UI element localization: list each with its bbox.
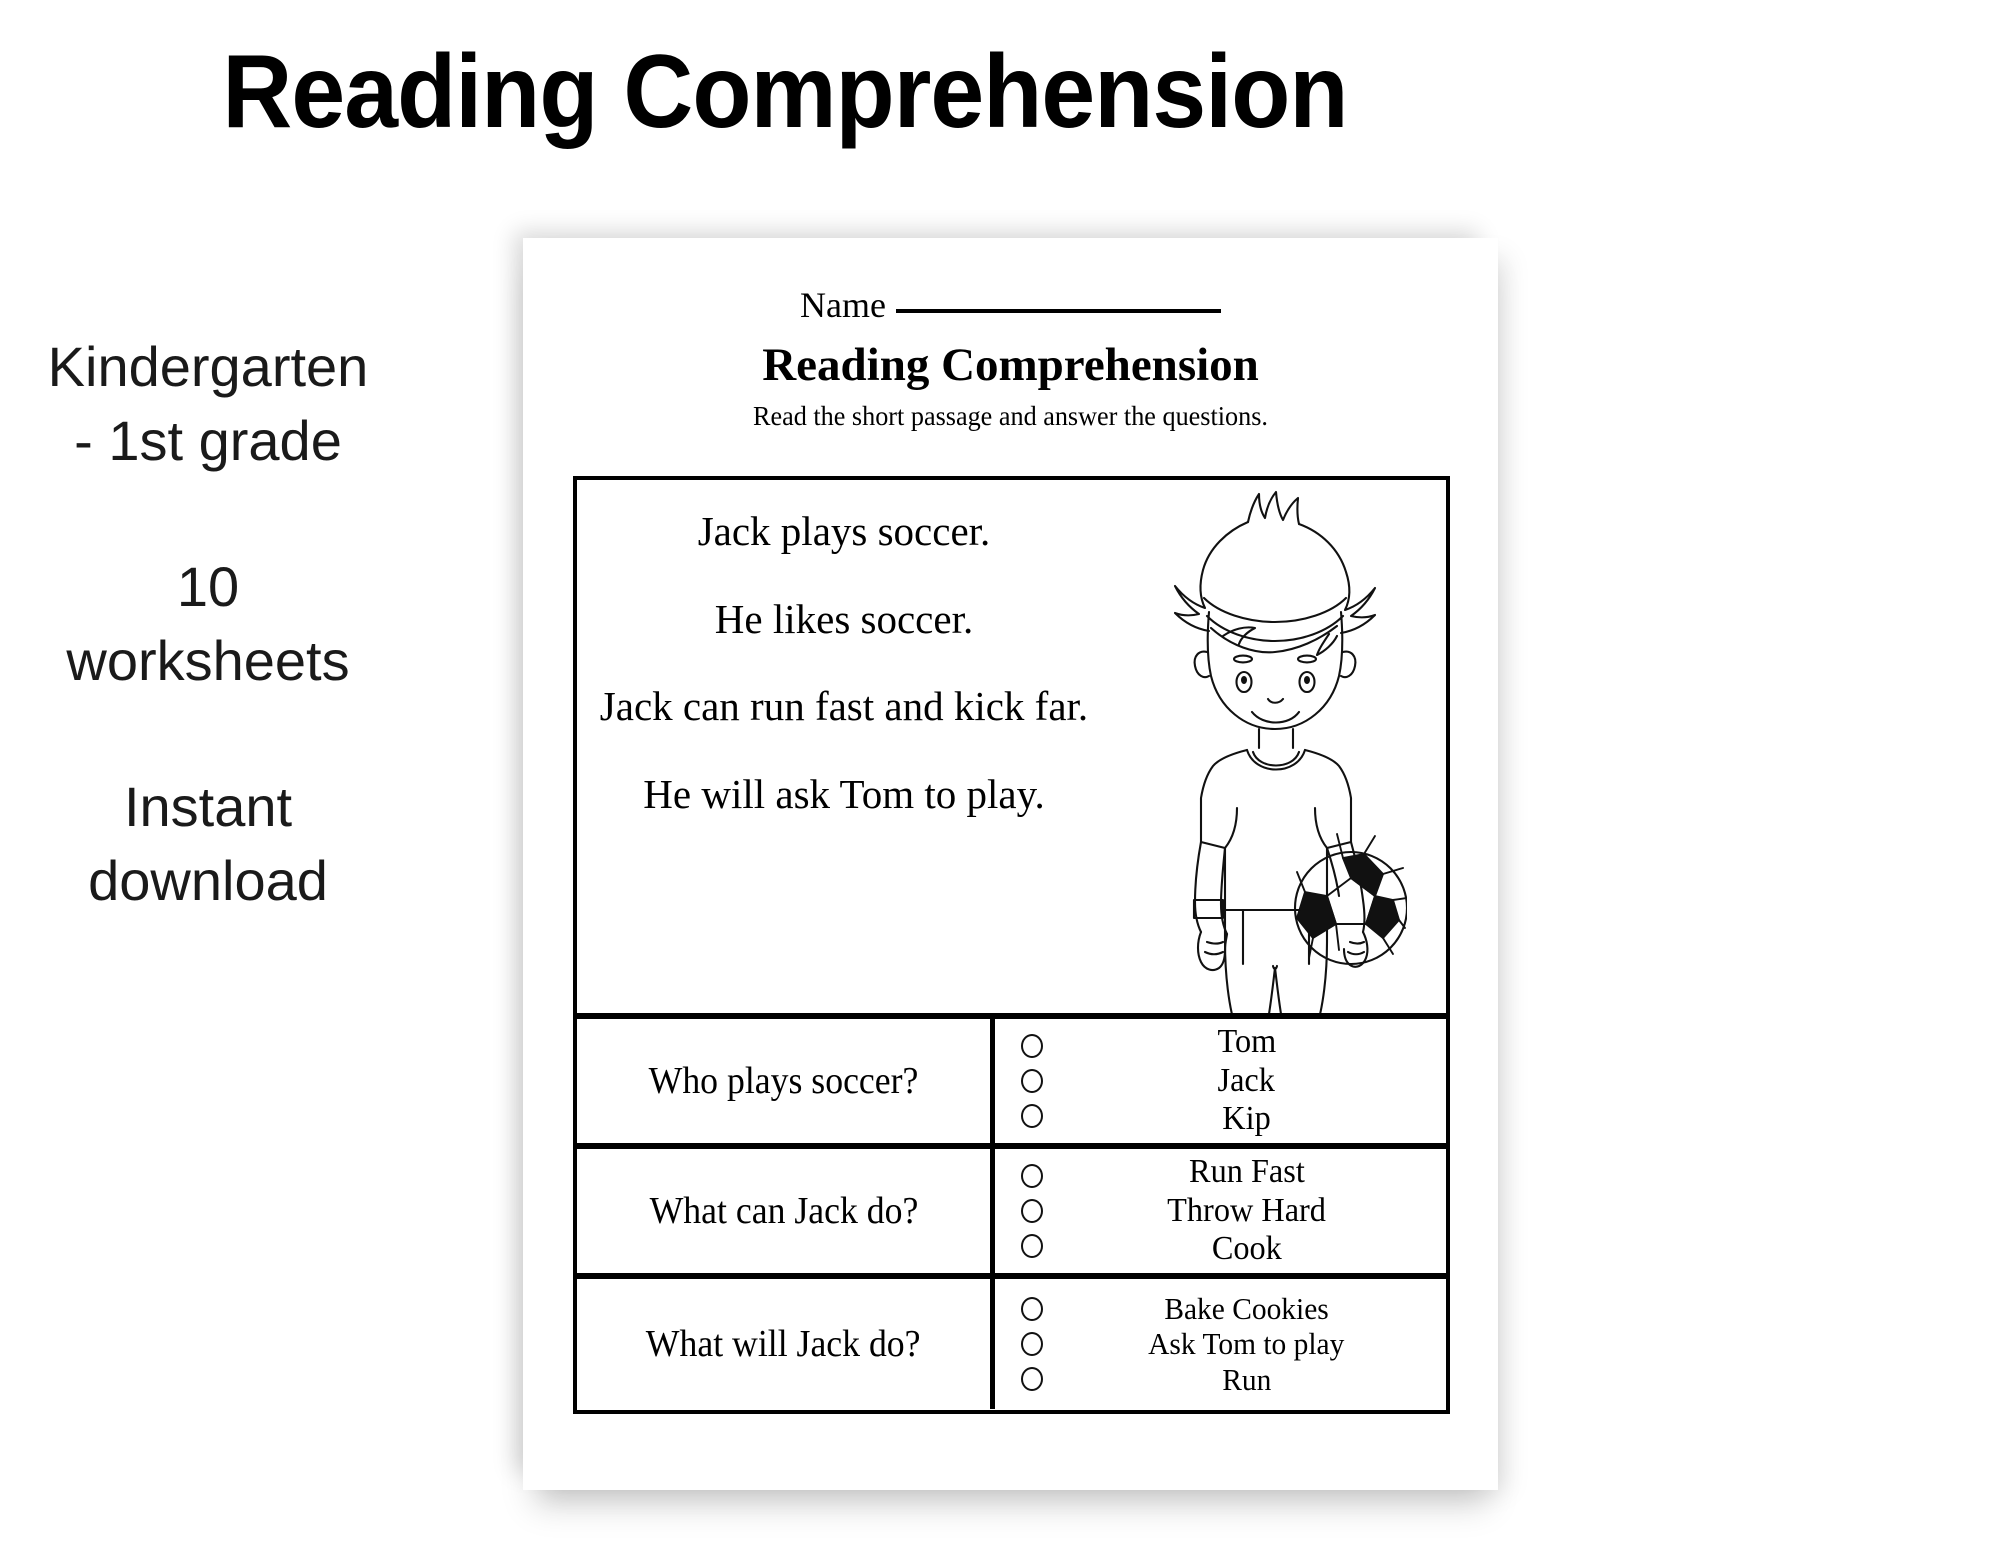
option-radio[interactable] [1021,1164,1043,1188]
option-radio[interactable] [1021,1367,1043,1391]
worksheet-content-frame: Jack plays soccer. He likes soccer. Jack… [573,476,1450,1414]
option-label[interactable]: Jack [1218,1063,1275,1099]
passage-region: Jack plays soccer. He likes soccer. Jack… [577,480,1446,1019]
options-radio-group [995,1297,1053,1391]
name-field-row: Name [523,284,1498,326]
promo-line: - 1st grade [8,404,408,478]
passage-line: Jack plays soccer. [595,508,1093,556]
question-cell: Who plays soccer? [577,1019,995,1143]
passage-line: He will ask Tom to play. [595,771,1093,819]
passage-line: Jack can run fast and kick far. [595,683,1093,731]
option-label[interactable]: Ask Tom to play [1148,1327,1344,1360]
option-label[interactable]: Cook [1211,1231,1281,1267]
options-cell: Tom Jack Kip [995,1019,1446,1143]
boy-with-soccer-ball-icon [1147,486,1407,1013]
illustration-cell [1107,480,1446,1013]
question-text: What will Jack do? [646,1322,921,1366]
options-label-list: Run Fast Throw Hard Cook [1053,1154,1446,1267]
options-radio-group [995,1034,1053,1128]
option-radio[interactable] [1021,1199,1043,1223]
options-label-list: Bake Cookies Ask Tom to play Run [1053,1292,1446,1395]
promo-line: worksheets [8,624,408,698]
question-text: What can Jack do? [649,1189,918,1233]
promo-worksheet-count: 10 worksheets [8,550,408,698]
question-cell: What can Jack do? [577,1149,995,1273]
worksheet-subtitle: Read the short passage and answer the qu… [538,401,1484,432]
question-cell: What will Jack do? [577,1279,995,1409]
page-title: Reading Comprehension [55,38,1515,147]
promo-column: Kindergarten - 1st grade 10 worksheets I… [8,330,408,917]
option-label[interactable]: Tom [1217,1024,1276,1060]
question-text: Who plays soccer? [649,1059,919,1103]
option-radio[interactable] [1021,1069,1043,1093]
option-label[interactable]: Run Fast [1189,1154,1305,1190]
option-radio[interactable] [1021,1034,1043,1058]
promo-instant-download: Instant download [8,770,408,918]
options-cell: Bake Cookies Ask Tom to play Run [995,1279,1446,1409]
name-write-in-line[interactable] [896,309,1221,313]
promo-line: Kindergarten [8,330,408,404]
options-radio-group [995,1164,1053,1258]
options-label-list: Tom Jack Kip [1053,1024,1446,1137]
option-radio[interactable] [1021,1104,1043,1128]
passage-line: He likes soccer. [595,596,1093,644]
option-radio[interactable] [1021,1297,1043,1321]
name-label: Name [800,285,886,325]
table-row: Who plays soccer? Tom Jack Kip [577,1019,1446,1149]
worksheet-title: Reading Comprehension [523,338,1498,392]
table-row: What can Jack do? Run Fast Throw Hard Co… [577,1149,1446,1279]
option-label[interactable]: Throw Hard [1167,1193,1326,1229]
promo-line: Instant [8,770,408,844]
promo-line: download [8,844,408,918]
promo-grade-level: Kindergarten - 1st grade [8,330,408,478]
passage-text: Jack plays soccer. He likes soccer. Jack… [577,480,1107,1013]
option-radio[interactable] [1021,1332,1043,1356]
worksheet-page: Name Reading Comprehension Read the shor… [523,238,1498,1490]
promo-line: 10 [8,550,408,624]
option-label[interactable]: Kip [1222,1101,1270,1137]
options-cell: Run Fast Throw Hard Cook [995,1149,1446,1273]
table-row: What will Jack do? Bake Cookies Ask Tom … [577,1279,1446,1409]
option-label[interactable]: Bake Cookies [1164,1292,1328,1325]
option-radio[interactable] [1021,1234,1043,1258]
option-label[interactable]: Run [1222,1363,1271,1396]
